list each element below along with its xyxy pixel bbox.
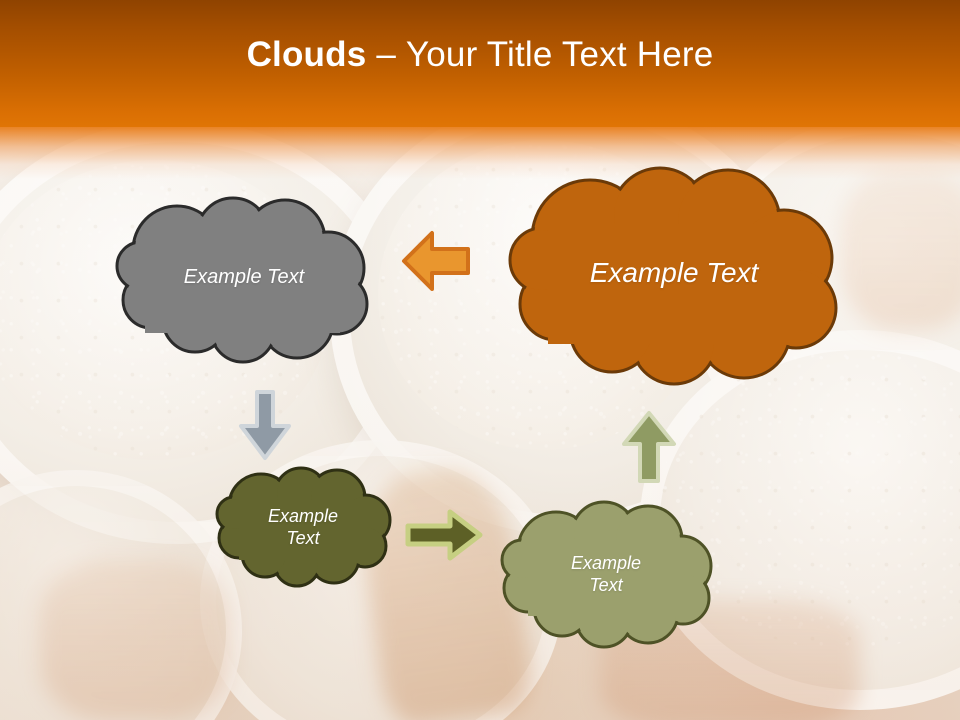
cloud-shape-gray: [117, 198, 367, 362]
cloud-node-orange[interactable]: Example Text: [508, 166, 840, 388]
cloud-node-sage[interactable]: Example Text: [500, 500, 712, 648]
slide-canvas: Clouds – Your Title Text Here: [0, 0, 960, 720]
beer-liquid: [40, 560, 230, 720]
cloud-node-olive[interactable]: Example Text: [215, 466, 391, 588]
page-title-bold: Clouds: [247, 35, 367, 75]
cloud-node-gray[interactable]: Example Text: [115, 196, 373, 364]
page-title-rest: Your Title Text Here: [406, 35, 714, 75]
arrow-down-icon[interactable]: [234, 388, 296, 462]
beer-glass: [0, 470, 242, 720]
page-title: Clouds – Your Title Text Here: [0, 0, 960, 127]
arrow-up-icon[interactable]: [618, 408, 680, 486]
cloud-shape-orange: [510, 168, 836, 384]
arrow-left-icon[interactable]: [400, 228, 472, 294]
cloud-shape-olive: [217, 468, 390, 586]
beer-liquid: [840, 170, 960, 330]
page-title-separator: –: [366, 35, 406, 75]
arrow-right-icon[interactable]: [402, 508, 486, 562]
cloud-shape-sage: [502, 502, 711, 647]
